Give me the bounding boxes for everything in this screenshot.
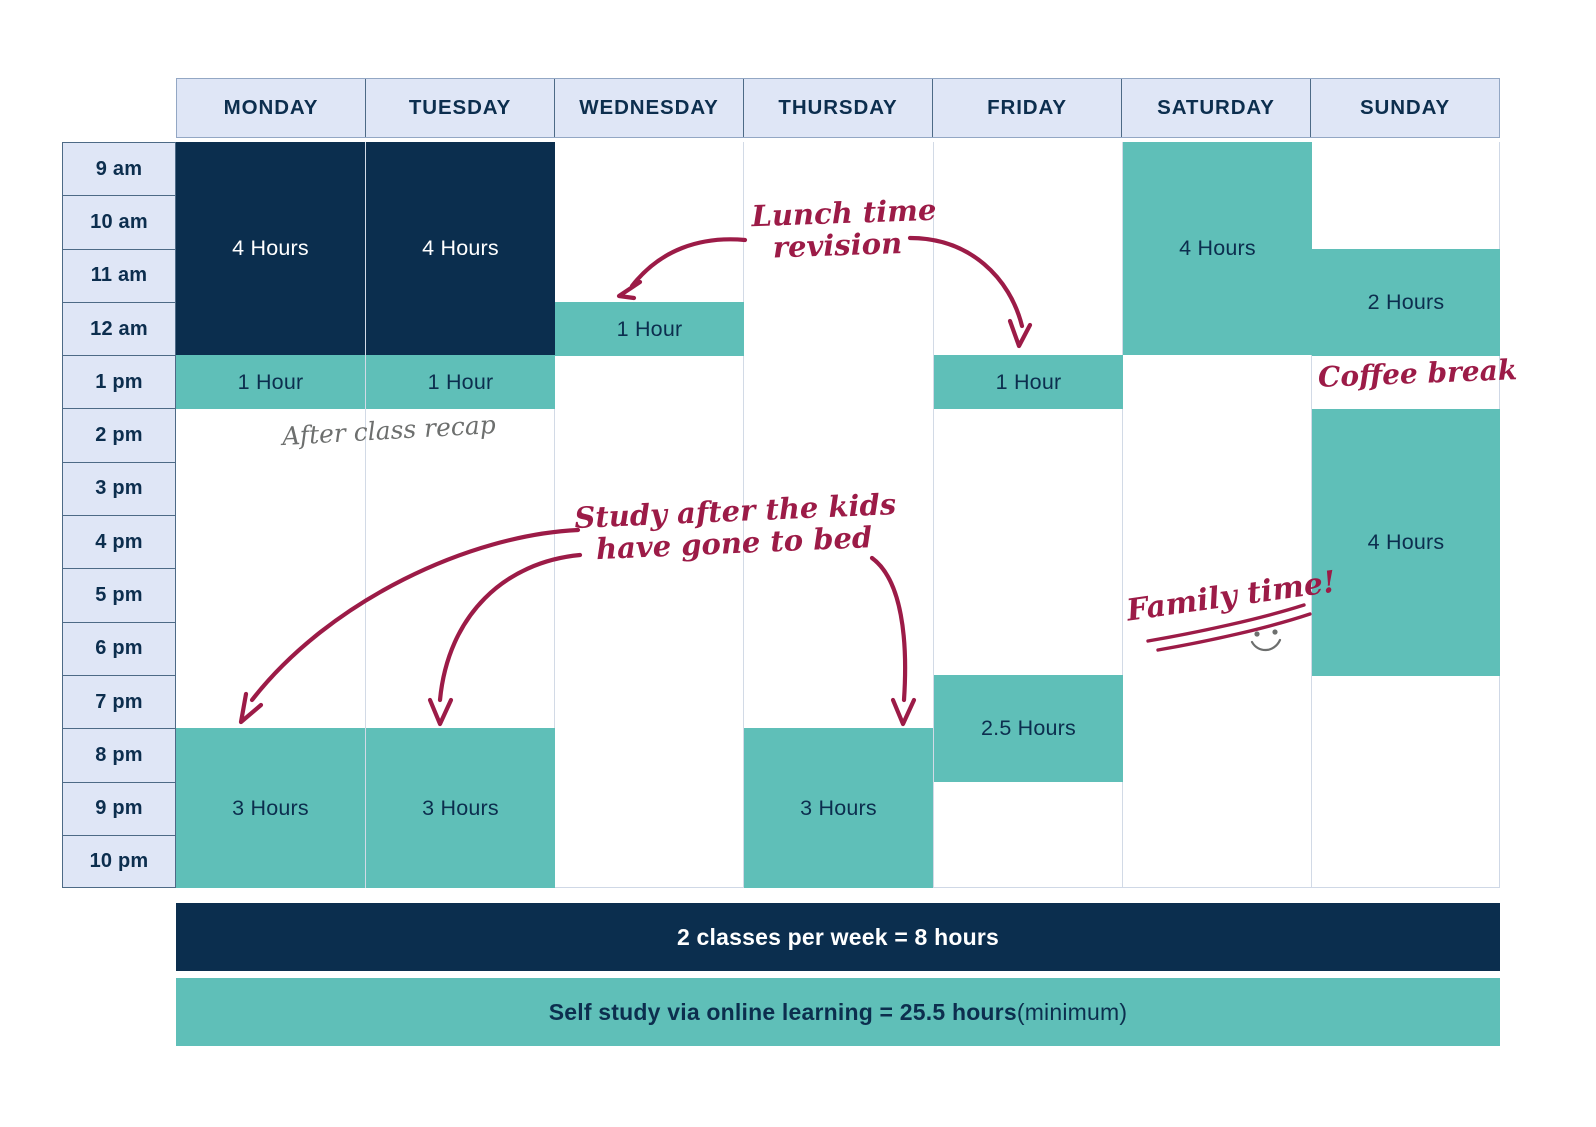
legend-classes-text: 2 classes per week = 8 hours: [677, 924, 999, 951]
block-label: 3 Hours: [422, 796, 499, 821]
block-label: 3 Hours: [800, 796, 877, 821]
block-label: 4 Hours: [1368, 530, 1445, 555]
day-header-label: WEDNESDAY: [579, 96, 718, 120]
time-row-label: 1 pm: [62, 355, 176, 408]
schedule-block-thursday-evening[interactable]: 3 Hours: [744, 728, 933, 888]
schedule-block-monday-morning[interactable]: 4 Hours: [176, 142, 365, 355]
block-label: 1 Hour: [996, 370, 1062, 395]
schedule-block-tuesday-morning[interactable]: 4 Hours: [366, 142, 555, 355]
time-row-label: 3 pm: [62, 462, 176, 515]
day-header-label: TUESDAY: [409, 96, 511, 120]
time-row-label: 8 pm: [62, 728, 176, 781]
schedule-block-sunday-afternoon[interactable]: 4 Hours: [1312, 409, 1500, 676]
day-header-saturday: SATURDAY: [1122, 79, 1311, 137]
schedule-block-sunday-morning[interactable]: 2 Hours: [1312, 249, 1500, 356]
block-label: 4 Hours: [232, 236, 309, 261]
legend-self-study-text: Self study via online learning = 25.5 ho…: [549, 999, 1017, 1026]
day-header-monday: MONDAY: [177, 79, 366, 137]
time-row-label: 9 pm: [62, 782, 176, 835]
day-header-row: MONDAY TUESDAY WEDNESDAY THURSDAY FRIDAY…: [176, 78, 1500, 138]
day-header-label: SATURDAY: [1157, 96, 1275, 120]
time-row-label: 6 pm: [62, 622, 176, 675]
time-row-label: 12 am: [62, 302, 176, 355]
block-label: 2.5 Hours: [981, 716, 1076, 741]
day-header-label: THURSDAY: [778, 96, 897, 120]
schedule-block-monday-midday[interactable]: 1 Hour: [176, 355, 365, 409]
legend-self-study-minimum: (minimum): [1017, 999, 1127, 1026]
time-column: 9 am 10 am 11 am 12 am 1 pm 2 pm 3 pm 4 …: [62, 142, 176, 888]
schedule-block-tuesday-evening[interactable]: 3 Hours: [366, 728, 555, 888]
schedule-block-friday-lunch[interactable]: 1 Hour: [934, 355, 1123, 409]
legend-self-study-bar: Self study via online learning = 25.5 ho…: [176, 978, 1500, 1046]
schedule-block-saturday-morning[interactable]: 4 Hours: [1123, 142, 1312, 355]
legend-classes-bar: 2 classes per week = 8 hours: [176, 903, 1500, 971]
day-header-thursday: THURSDAY: [744, 79, 933, 137]
time-row-label: 9 am: [62, 142, 176, 195]
time-row-label: 10 am: [62, 195, 176, 248]
day-header-tuesday: TUESDAY: [366, 79, 555, 137]
block-label: 3 Hours: [232, 796, 309, 821]
schedule-block-tuesday-midday[interactable]: 1 Hour: [366, 355, 555, 409]
block-label: 1 Hour: [238, 370, 304, 395]
time-row-label: 2 pm: [62, 408, 176, 461]
day-header-wednesday: WEDNESDAY: [555, 79, 744, 137]
schedule-grid: 4 Hours 1 Hour 3 Hours 4 Hours 1 Hour 3 …: [176, 142, 1500, 888]
block-label: 1 Hour: [617, 317, 683, 342]
time-row-label: 7 pm: [62, 675, 176, 728]
weekly-schedule-sheet: MONDAY TUESDAY WEDNESDAY THURSDAY FRIDAY…: [0, 0, 1596, 1127]
schedule-block-wednesday-lunch[interactable]: 1 Hour: [555, 302, 744, 356]
time-row-label: 10 pm: [62, 835, 176, 888]
block-label: 2 Hours: [1368, 290, 1445, 315]
day-header-label: MONDAY: [224, 96, 319, 120]
day-header-label: FRIDAY: [987, 96, 1067, 120]
block-label: 1 Hour: [428, 370, 494, 395]
time-row-label: 11 am: [62, 249, 176, 302]
schedule-block-monday-evening[interactable]: 3 Hours: [176, 728, 365, 888]
block-label: 4 Hours: [422, 236, 499, 261]
day-header-sunday: SUNDAY: [1311, 79, 1499, 137]
block-label: 4 Hours: [1179, 236, 1256, 261]
time-row-label: 4 pm: [62, 515, 176, 568]
schedule-block-friday-evening[interactable]: 2.5 Hours: [934, 675, 1123, 782]
day-header-label: SUNDAY: [1360, 96, 1450, 120]
time-row-label: 5 pm: [62, 568, 176, 621]
day-header-friday: FRIDAY: [933, 79, 1122, 137]
